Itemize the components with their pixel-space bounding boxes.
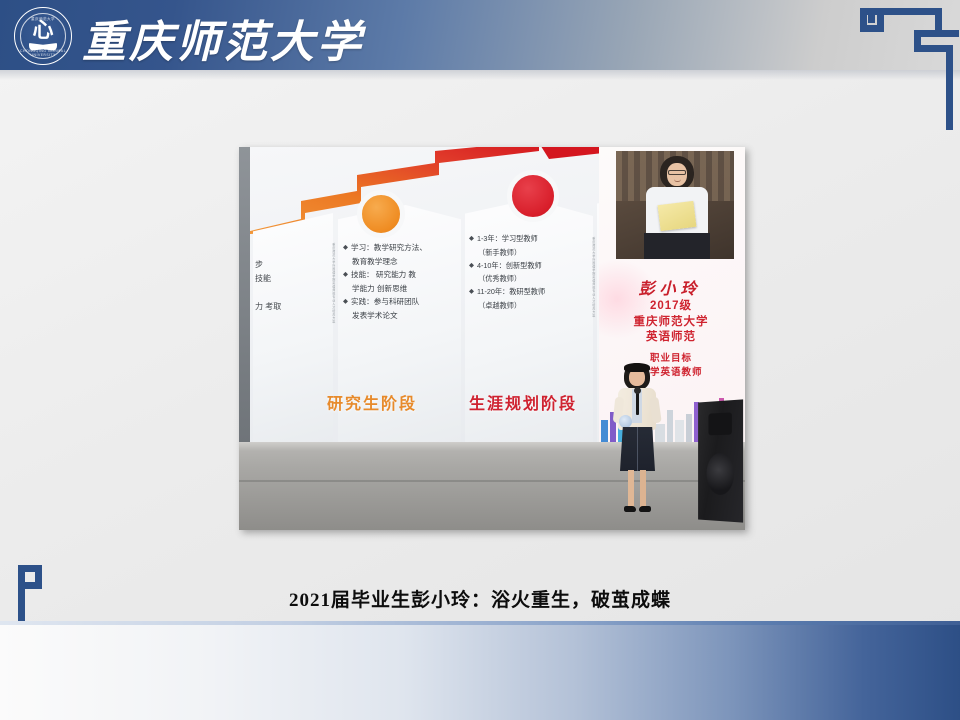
bullet-text: 实践：参与科研团队: [351, 296, 459, 308]
partial-line: 技能: [255, 273, 331, 285]
seal-center-glyph: 心: [15, 20, 71, 41]
diamond-bullet-icon: ◆: [343, 269, 348, 281]
bullet-text: 11-20年：教研型教师: [477, 286, 591, 298]
bullet-text: 1-3年：学习型教师: [477, 233, 591, 245]
poster-student-details: 2017级 重庆师范大学 英语师范: [599, 299, 743, 346]
loudspeaker-box: [698, 399, 743, 522]
speaker-badge: [619, 415, 632, 428]
diamond-bullet-icon: ◆: [343, 242, 348, 254]
stage-label-career: 生涯规划阶段: [469, 390, 577, 414]
graduate-stage-bullets: ◆学习：教学研究方法、 教育教学理念 ◆技能： 研究能力 教 学能力 创新思维 …: [343, 242, 459, 323]
projection-screen: 步 技能 力 考取 重庆师范大学外国语学院英语师范专业人才培养方案 重庆师范大学…: [239, 147, 745, 442]
vertical-micro-text-left: 重庆师范大学外国语学院英语师范专业人才培养方案: [331, 243, 335, 393]
poster-university: 重庆师范大学: [599, 315, 743, 331]
partial-line: 力 考取: [255, 301, 331, 313]
slide-panel-partial: [253, 213, 333, 442]
stage-floor-edge: [239, 442, 745, 451]
poster-student-name: 彭小玲: [599, 275, 741, 299]
microphone-icon: [636, 391, 639, 415]
partial-line: 步: [255, 259, 331, 271]
slide-partial-left-text: 步 技能 力 考取: [255, 259, 331, 315]
bullet-text: 4-10年：创新型教师: [477, 260, 591, 272]
decorative-corner-top-right: [860, 8, 960, 130]
bullet-text: 学习：教学研究方法、: [351, 242, 459, 254]
bullet-text: （新手教师）: [478, 247, 591, 258]
diamond-bullet-icon: ◆: [469, 286, 474, 298]
poster-major: 英语师范: [599, 330, 743, 346]
slide-header: 重庆师范大学 心 CHONGQING NORMAL UNIVERSITY 重庆师…: [0, 0, 960, 70]
career-stage-bullets: ◆1-3年：学习型教师 （新手教师） ◆4-10年：创新型教师 （优秀教师） ◆…: [469, 233, 591, 313]
glasses-icon: [668, 170, 686, 175]
slide-canvas: 重庆师范大学 心 CHONGQING NORMAL UNIVERSITY 重庆师…: [0, 0, 960, 720]
poster-grade: 2017级: [599, 299, 743, 315]
stage-label-graduate: 研究生阶段: [327, 390, 417, 414]
stage-presentation-photo: 步 技能 力 考取 重庆师范大学外国语学院英语师范专业人才培养方案 重庆师范大学…: [239, 147, 745, 530]
slide-caption: 2021届毕业生彭小玲：浴火重生，破茧成蝶: [0, 585, 960, 612]
seal-ring-text-bottom: CHONGQING NORMAL UNIVERSITY: [15, 49, 71, 57]
stage-floor: [239, 442, 745, 530]
red-circle-marker: [507, 170, 559, 222]
stage-floor-seam: [239, 480, 745, 482]
diamond-bullet-icon: ◆: [469, 260, 474, 272]
diamond-bullet-icon: ◆: [469, 233, 474, 245]
orange-circle-marker: [357, 190, 405, 238]
bullet-text: 学能力 创新思维: [352, 283, 459, 295]
bullet-text: 发表学术论文: [352, 310, 459, 322]
header-shadow: [0, 70, 960, 80]
room-left-edge: [239, 147, 250, 442]
university-name: 重庆师范大学: [82, 6, 364, 70]
student-portrait-photo: [616, 151, 734, 259]
bullet-text: 教育教学理念: [352, 256, 459, 268]
bullet-text: （卓越教师）: [478, 300, 591, 311]
vertical-micro-text-right: 重庆师范大学外国语学院英语师范专业人才培养方案: [591, 237, 595, 387]
bullet-text: （优秀教师）: [478, 273, 591, 284]
bottom-gradient-band: [0, 625, 960, 720]
university-seal-icon: 重庆师范大学 心 CHONGQING NORMAL UNIVERSITY: [14, 7, 72, 65]
diamond-bullet-icon: ◆: [343, 296, 348, 308]
speaker-person: [611, 363, 665, 519]
bullet-text: 技能： 研究能力 教: [351, 269, 459, 281]
